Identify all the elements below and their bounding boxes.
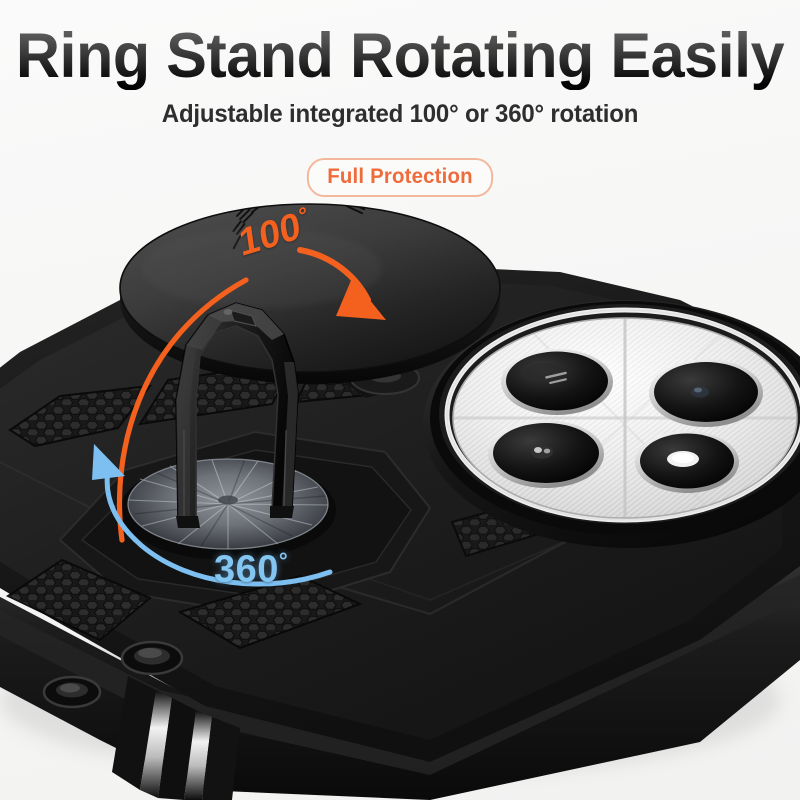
product-marketing-image: Ring Stand Rotating Easily Adjustable in…	[0, 0, 800, 800]
page-title: Ring Stand Rotating Easily	[12, 22, 788, 90]
ring-base-disc	[120, 459, 336, 560]
camera-lens-top-left	[501, 349, 613, 415]
power-button-cutout	[44, 677, 100, 707]
camera-flash	[635, 431, 739, 493]
status-badge: Full Protection	[307, 158, 493, 197]
volume-button-cutout	[122, 642, 182, 674]
camera-lens-right	[649, 359, 763, 427]
page-subtitle: Adjustable integrated 100° or 360° rotat…	[16, 100, 784, 129]
camera-lens-bottom-left	[488, 420, 604, 488]
badge-container: Full Protection	[0, 158, 800, 197]
